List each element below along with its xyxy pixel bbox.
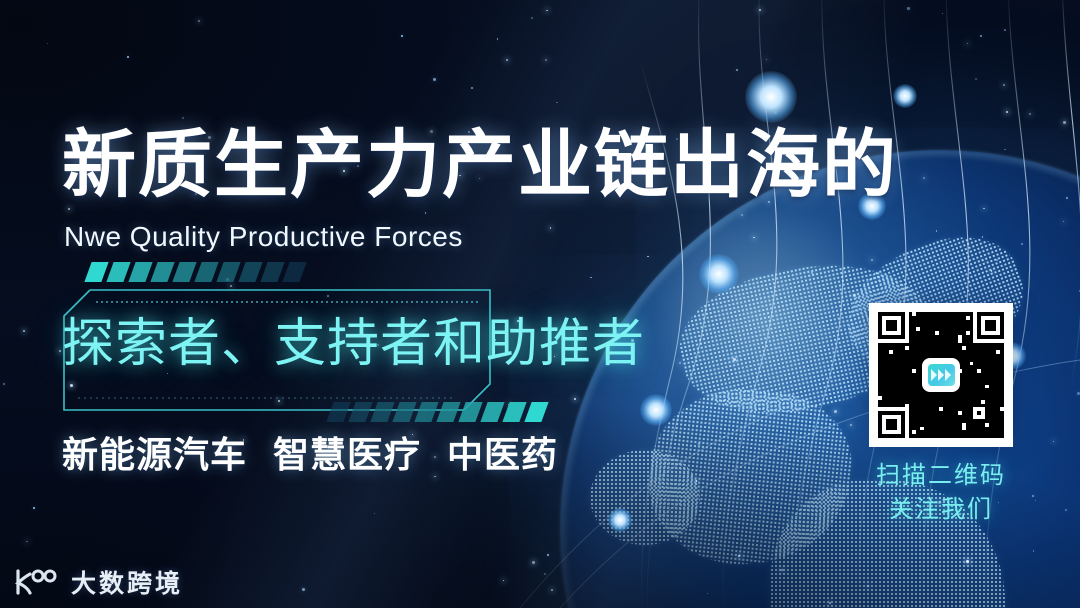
decor-bar	[128, 262, 152, 282]
glow-hotspot	[699, 254, 739, 294]
star-dot	[982, 236, 983, 237]
star-dot	[936, 230, 937, 231]
decor-bar	[260, 262, 284, 282]
decor-bar	[326, 402, 350, 422]
decor-bar	[150, 262, 174, 282]
infinity-k-mark-icon	[14, 567, 62, 597]
star-dot	[781, 569, 783, 571]
decor-bar	[348, 402, 372, 422]
star-dot	[1006, 111, 1008, 113]
poster-canvas: 新质生产力产业链出海的 Nwe Quality Productive Force…	[0, 0, 1080, 608]
decor-bar	[216, 262, 240, 282]
star-dot	[574, 398, 576, 400]
star-dot	[1021, 243, 1023, 245]
qr-caption: 扫描二维码 关注我们	[869, 459, 1013, 527]
star-dot	[230, 285, 232, 287]
qr-caption-line1: 扫描二维码	[869, 459, 1013, 493]
decor-bar	[392, 402, 416, 422]
chevron-right-icon	[938, 369, 944, 381]
star-dot	[198, 20, 200, 22]
qr-center-logo-glyph	[928, 364, 955, 386]
keyword-list: 新能源汽车智慧医疗中医药	[62, 437, 558, 473]
keyword-item: 新能源汽车	[62, 434, 247, 475]
decor-bar	[436, 402, 460, 422]
decor-bar	[238, 262, 262, 282]
star-dot	[1032, 495, 1034, 497]
decor-bars-top	[88, 262, 303, 282]
decor-bar	[524, 402, 548, 422]
keyword-item: 智慧医疗	[273, 434, 421, 475]
star-dot	[797, 409, 798, 410]
star-dot	[966, 560, 969, 563]
chevron-right-icon	[931, 369, 937, 381]
glow-hotspot	[893, 84, 917, 108]
decor-bar	[172, 262, 196, 282]
star-dot	[302, 588, 305, 591]
decor-bar	[480, 402, 504, 422]
glow-hotspot	[745, 71, 797, 123]
star-dot	[531, 17, 533, 19]
decor-bar	[84, 262, 108, 282]
qr-center-logo	[924, 360, 958, 390]
star-dot	[3, 383, 5, 385]
star-dot	[425, 212, 426, 213]
star-dot	[182, 117, 184, 119]
decor-bar	[370, 402, 394, 422]
brand-logo[interactable]: 大数跨境	[14, 564, 183, 600]
star-dot	[736, 69, 738, 71]
star-dot	[497, 38, 498, 39]
star-dot	[433, 78, 436, 81]
star-dot	[68, 208, 70, 210]
decor-bars-bottom	[330, 402, 545, 422]
star-dot	[1004, 149, 1005, 150]
star-dot	[741, 214, 743, 216]
page-title: 新质生产力产业链出海的	[62, 128, 898, 202]
keyword-item: 中医药	[447, 434, 558, 475]
star-dot	[1003, 84, 1005, 86]
decor-bar	[458, 402, 482, 422]
qr-card[interactable]	[869, 303, 1013, 447]
star-dot	[551, 589, 553, 591]
decor-bar	[414, 402, 438, 422]
qr-code-image[interactable]	[878, 312, 1004, 438]
star-dot	[696, 480, 697, 481]
qr-caption-line2: 关注我们	[869, 493, 1013, 527]
star-dot	[59, 350, 61, 352]
star-dot	[753, 237, 754, 238]
star-dot	[853, 294, 856, 297]
decor-bar	[106, 262, 130, 282]
decor-bar	[194, 262, 218, 282]
glow-hotspot	[608, 508, 632, 532]
star-dot	[550, 227, 551, 228]
page-subtitle: Nwe Quality Productive Forces	[64, 223, 463, 251]
qr-block[interactable]: 扫描二维码 关注我们	[869, 303, 1013, 527]
decor-bar	[282, 262, 306, 282]
brand-logo-text: 大数跨境	[71, 564, 183, 600]
star-dot	[776, 347, 778, 349]
chevron-right-icon	[945, 369, 951, 381]
star-dot	[738, 555, 739, 556]
glow-hotspot	[640, 394, 672, 426]
headline-secondary: 探索者、支持者和助推者	[62, 318, 645, 370]
star-dot	[867, 585, 869, 587]
decor-bar	[502, 402, 526, 422]
star-dot	[1066, 197, 1068, 199]
